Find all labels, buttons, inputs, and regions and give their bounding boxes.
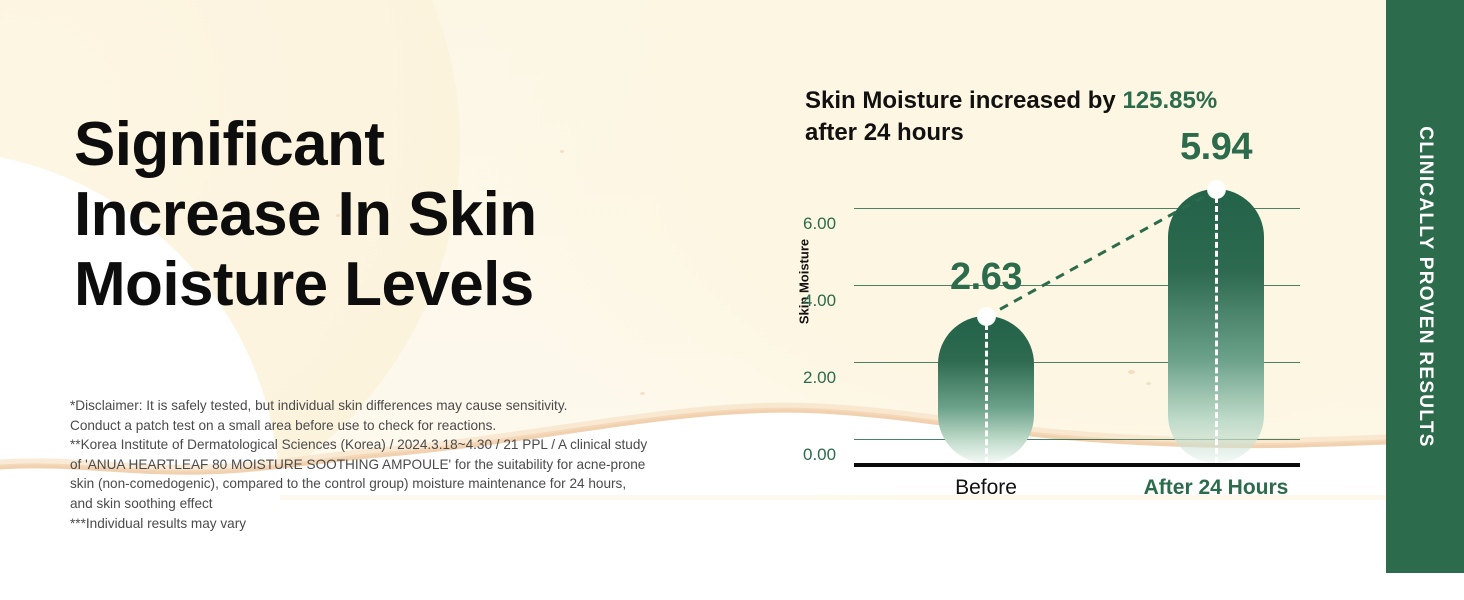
value-label-after: 5.94	[1116, 126, 1316, 169]
headline-line-2: Increase In Skin	[74, 180, 674, 250]
x-label-after: After 24 Hours	[1116, 476, 1316, 500]
promo-banner: Significant Increase In Skin Moisture Le…	[0, 0, 1464, 600]
texture-fleck	[640, 392, 645, 395]
headline-line-1: Significant	[74, 110, 674, 180]
disclaimer-line: and skin soothing effect	[70, 494, 760, 514]
disclaimer-line: *Disclaimer: It is safely tested, but in…	[70, 396, 760, 416]
chart-plot-area: Skin Moisture 6.00 4.00 2.00 0.00	[770, 78, 1330, 528]
disclaimer-line: of 'ANUA HEARTLEAF 80 MOISTURE SOOTHING …	[70, 455, 760, 475]
data-point-after[interactable]	[1208, 181, 1225, 198]
disclaimer-line: ***Individual results may vary	[70, 514, 760, 534]
headline-line-3: Moisture Levels	[74, 250, 674, 320]
clinically-proven-banner: CLINICALLY PROVEN RESULTS	[1386, 0, 1464, 573]
data-point-before[interactable]	[978, 308, 995, 325]
page-title: Significant Increase In Skin Moisture Le…	[74, 110, 674, 320]
banner-label: CLINICALLY PROVEN RESULTS	[1414, 126, 1436, 447]
disclaimer-line: Conduct a patch test on a small area bef…	[70, 416, 760, 436]
disclaimer-line: **Korea Institute of Dermatological Scie…	[70, 435, 760, 455]
chart-block: Skin Moisture increased by 125.85% after…	[770, 78, 1330, 528]
value-label-before: 2.63	[886, 256, 1086, 299]
x-axis-baseline	[854, 463, 1300, 467]
disclaimer-line: skin (non-comedogenic), compared to the …	[70, 474, 760, 494]
disclaimer-text: *Disclaimer: It is safely tested, but in…	[70, 396, 760, 533]
x-label-before: Before	[886, 476, 1086, 500]
